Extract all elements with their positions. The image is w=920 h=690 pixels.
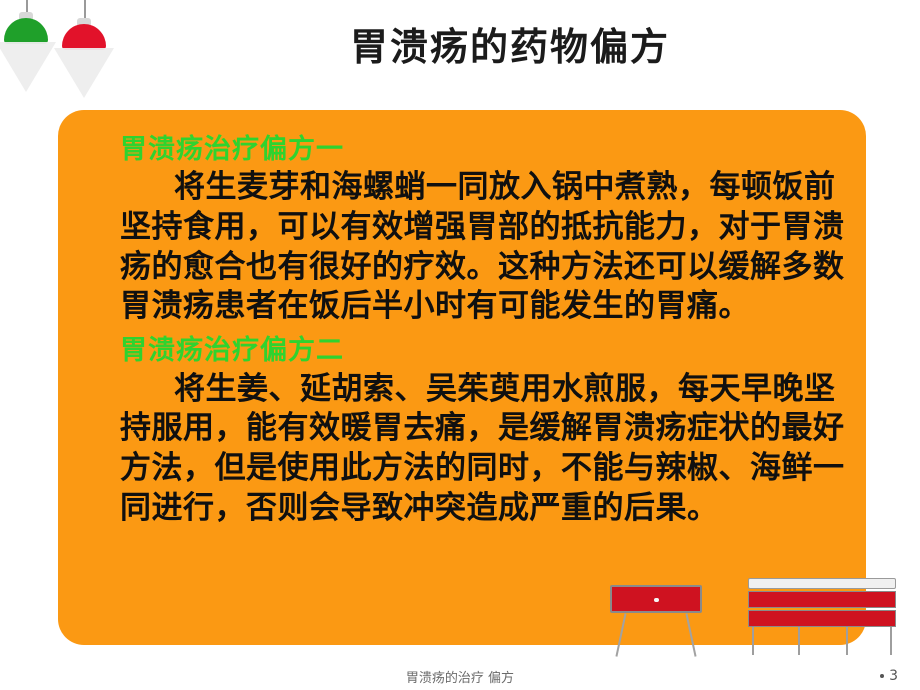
desk-small-leg-right (685, 613, 696, 656)
desk-graphic-long (748, 578, 896, 656)
desk-long-shelf-lower (748, 610, 896, 627)
lamp-dome-left-green-icon (4, 18, 48, 44)
section-2-paragraph: 将生姜、延胡索、吴茱萸用水煎服，每天早晚坚持服用，能有效暖胃去痛，是缓解胃溃疡症… (120, 370, 848, 529)
content-panel: 胃溃疡治疗偏方一 将生麦芽和海螺蛸一同放入锅中煮熟，每顿饭前坚持食用，可以有效增… (58, 110, 866, 645)
page-number-bullet (880, 674, 884, 678)
lamp-wire-right (84, 0, 86, 20)
lamp-shade-left (0, 42, 56, 92)
footer-note: 胃溃疡的治疗 偏方 (0, 667, 920, 686)
desk-graphic-small (610, 585, 702, 657)
section-2-text: 将生姜、延胡索、吴茱萸用水煎服，每天早晚坚持服用，能有效暖胃去痛，是缓解胃溃疡症… (120, 371, 845, 526)
section-1-paragraph: 将生麦芽和海螺蛸一同放入锅中煮熟，每顿饭前坚持食用，可以有效增强胃部的抵抗能力，… (120, 168, 848, 327)
content-wrapper: 胃溃疡治疗偏方一 将生麦芽和海螺蛸一同放入锅中煮熟，每顿饭前坚持食用，可以有效增… (120, 126, 848, 528)
section-1-heading: 胃溃疡治疗偏方一 (120, 132, 848, 168)
desk-small-leg-left (615, 613, 626, 656)
page-number: 3 (889, 668, 898, 684)
desk-long-shelf-upper (748, 591, 896, 608)
desk-long-leg-1 (752, 627, 754, 655)
desk-long-leg-4 (890, 627, 892, 655)
section-1-text: 将生麦芽和海螺蛸一同放入锅中煮熟，每顿饭前坚持食用，可以有效增强胃部的抵抗能力，… (120, 169, 845, 324)
desk-long-leg-3 (846, 627, 848, 655)
desk-small-knob-icon (654, 598, 659, 602)
page-title: 胃溃疡的药物偏方 (140, 16, 880, 71)
lamp-dome-right-red-icon (62, 24, 106, 50)
section-2-heading: 胃溃疡治疗偏方二 (120, 333, 848, 369)
desk-long-top (748, 578, 896, 589)
desk-long-leg-2 (798, 627, 800, 655)
hanging-lamps-decoration (0, 0, 140, 96)
lamp-shade-right (54, 48, 114, 98)
slide-canvas: 胃溃疡的药物偏方 胃溃疡治疗偏方一 将生麦芽和海螺蛸一同放入锅中煮熟，每顿饭前坚… (0, 0, 920, 690)
